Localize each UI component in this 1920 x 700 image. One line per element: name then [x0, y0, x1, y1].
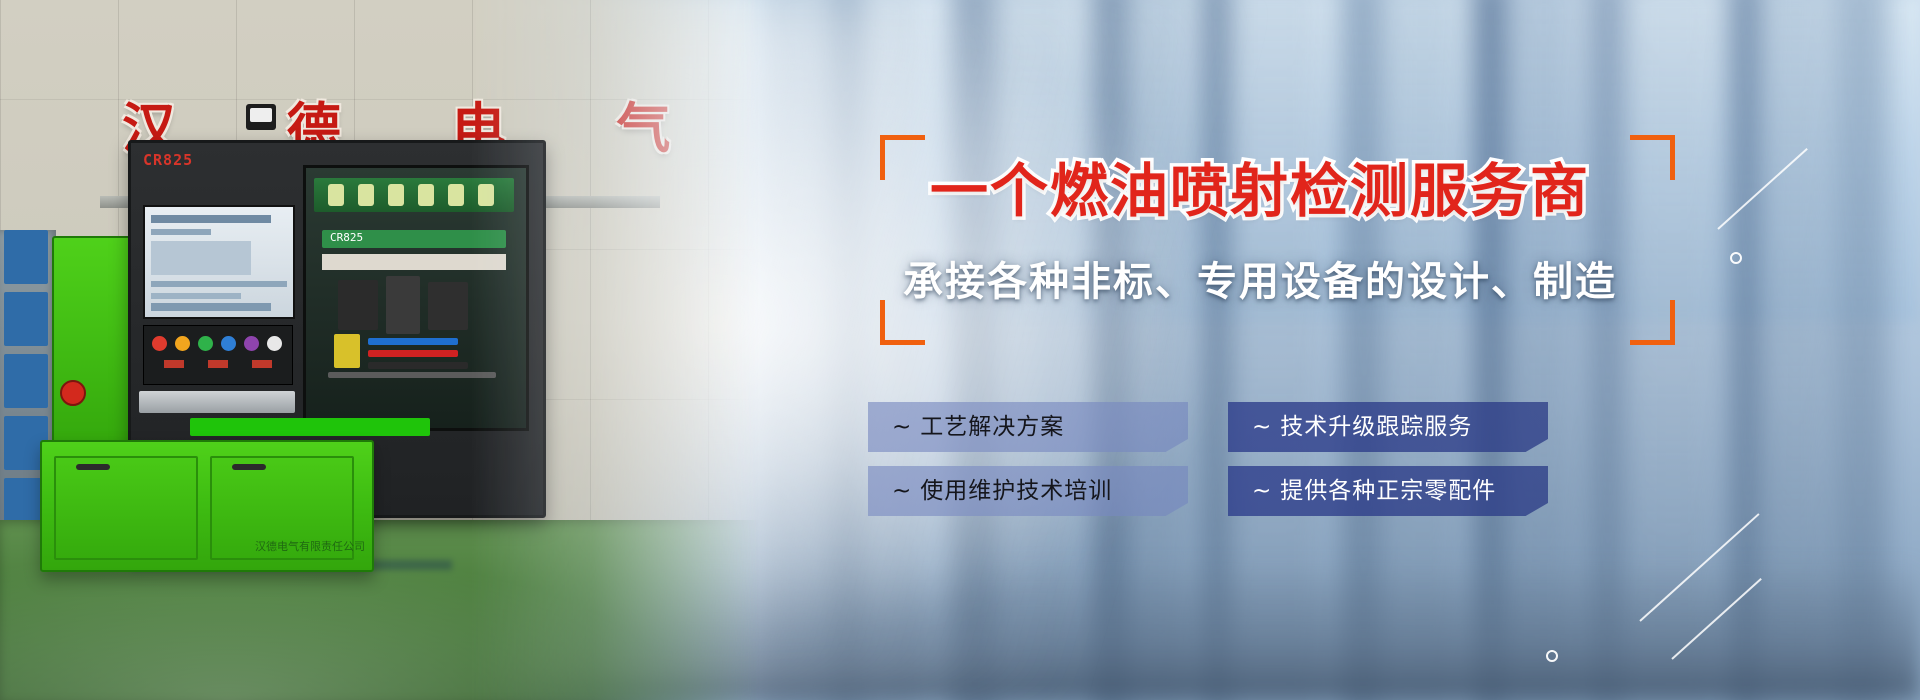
feature-tag-label: ~使用维护技术培训 [892, 466, 1112, 516]
deco-dot-1 [1730, 252, 1742, 264]
feature-tag[interactable]: ~使用维护技术培训 [868, 466, 1188, 516]
deco-dot-2 [1546, 650, 1558, 662]
hero-banner: 汉 德 电 气 CR825 [0, 0, 1920, 700]
feature-tag-label: ~提供各种正宗零配件 [1252, 466, 1496, 516]
banner-subtitle: 承接各种非标、专用设备的设计、制造 [880, 262, 1640, 302]
deco-line-2 [1639, 513, 1759, 622]
feature-tag[interactable]: ~提供各种正宗零配件 [1228, 466, 1548, 516]
feature-tag-list: ~工艺解决方案~技术升级跟踪服务~使用维护技术培训~提供各种正宗零配件 [868, 402, 1608, 532]
feature-tag-text: 工艺解决方案 [920, 414, 1064, 440]
tilde-icon: ~ [1252, 414, 1272, 440]
feature-tag-text: 提供各种正宗零配件 [1280, 478, 1496, 504]
deco-line-1 [1717, 148, 1808, 230]
corner-bracket-bottom-left-icon [880, 300, 925, 345]
tilde-icon: ~ [1252, 478, 1272, 504]
feature-tag-text: 技术升级跟踪服务 [1280, 414, 1472, 440]
banner-headline: 一个燃油喷射检测服务商 [920, 162, 1600, 220]
tilde-icon: ~ [892, 478, 912, 504]
corner-bracket-top-right-icon [1630, 135, 1675, 180]
corner-bracket-bottom-right-icon [1630, 300, 1675, 345]
corner-bracket-top-left-icon [880, 135, 925, 180]
decorative-lines [0, 0, 1920, 700]
feature-tag[interactable]: ~工艺解决方案 [868, 402, 1188, 452]
feature-tag[interactable]: ~技术升级跟踪服务 [1228, 402, 1548, 452]
deco-line-3 [1671, 578, 1762, 660]
feature-tag-label: ~工艺解决方案 [892, 402, 1064, 452]
banner-content: 一个燃油喷射检测服务商 承接各种非标、专用设备的设计、制造 ~工艺解决方案~技术… [0, 0, 1920, 700]
feature-tag-text: 使用维护技术培训 [920, 478, 1112, 504]
feature-tag-label: ~技术升级跟踪服务 [1252, 402, 1472, 452]
tilde-icon: ~ [892, 414, 912, 440]
